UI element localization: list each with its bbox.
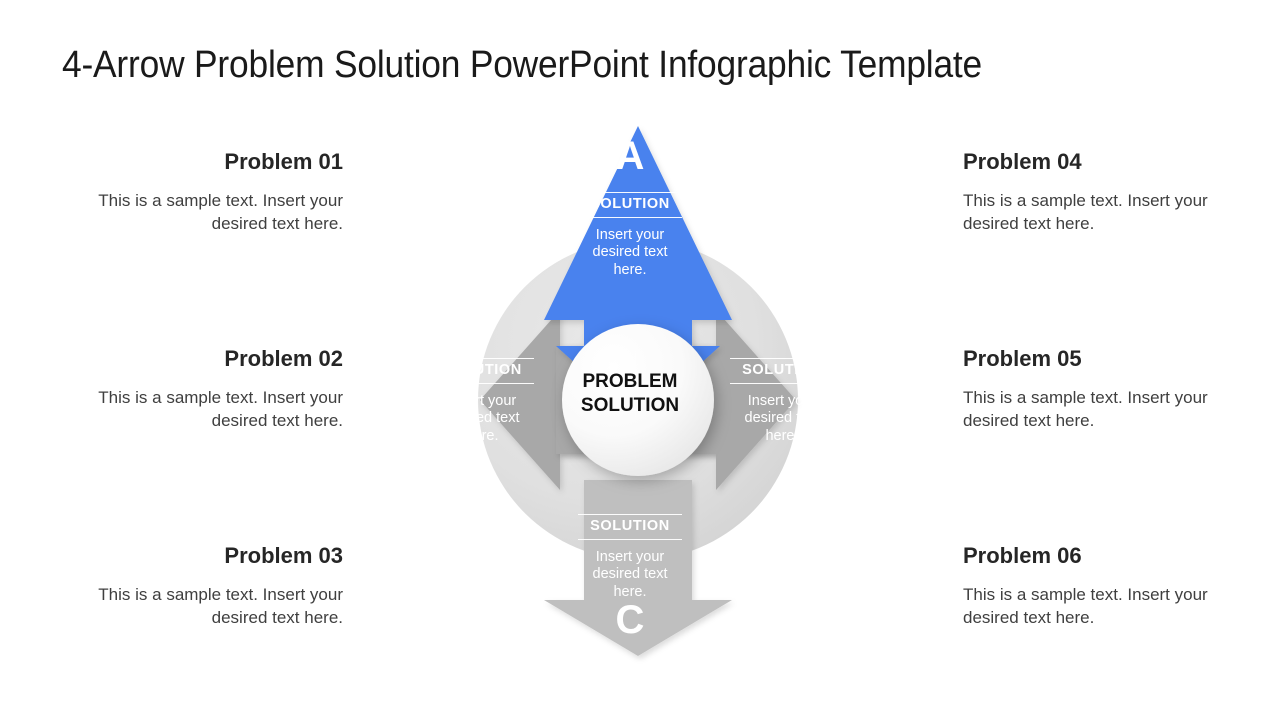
problem-title: Problem 05: [963, 347, 1251, 371]
problem-title: Problem 04: [963, 150, 1251, 174]
problem-title: Problem 02: [55, 347, 343, 371]
problem-block-06: Problem 06 This is a sample text. Insert…: [963, 544, 1251, 629]
problem-title: Problem 06: [963, 544, 1251, 568]
problem-body: This is a sample text. Insert your desir…: [963, 387, 1251, 432]
problem-block-01: Problem 01 This is a sample text. Insert…: [55, 150, 343, 235]
problem-title: Problem 03: [55, 544, 343, 568]
four-arrow-diagram: A B C D SOLUTION Insert your desired tex…: [340, 100, 940, 680]
problem-body: This is a sample text. Insert your desir…: [55, 584, 343, 629]
problem-block-02: Problem 02 This is a sample text. Insert…: [55, 347, 343, 432]
diagram-canvas: [340, 100, 940, 680]
problem-body: This is a sample text. Insert your desir…: [55, 387, 343, 432]
problem-body: This is a sample text. Insert your desir…: [963, 190, 1251, 235]
problem-block-03: Problem 03 This is a sample text. Insert…: [55, 544, 343, 629]
center-circle[interactable]: [562, 324, 714, 476]
problem-block-05: Problem 05 This is a sample text. Insert…: [963, 347, 1251, 432]
problem-body: This is a sample text. Insert your desir…: [55, 190, 343, 235]
problem-title: Problem 01: [55, 150, 343, 174]
problem-block-04: Problem 04 This is a sample text. Insert…: [963, 150, 1251, 235]
problem-body: This is a sample text. Insert your desir…: [963, 584, 1251, 629]
page-title: 4-Arrow Problem Solution PowerPoint Info…: [62, 44, 1141, 87]
